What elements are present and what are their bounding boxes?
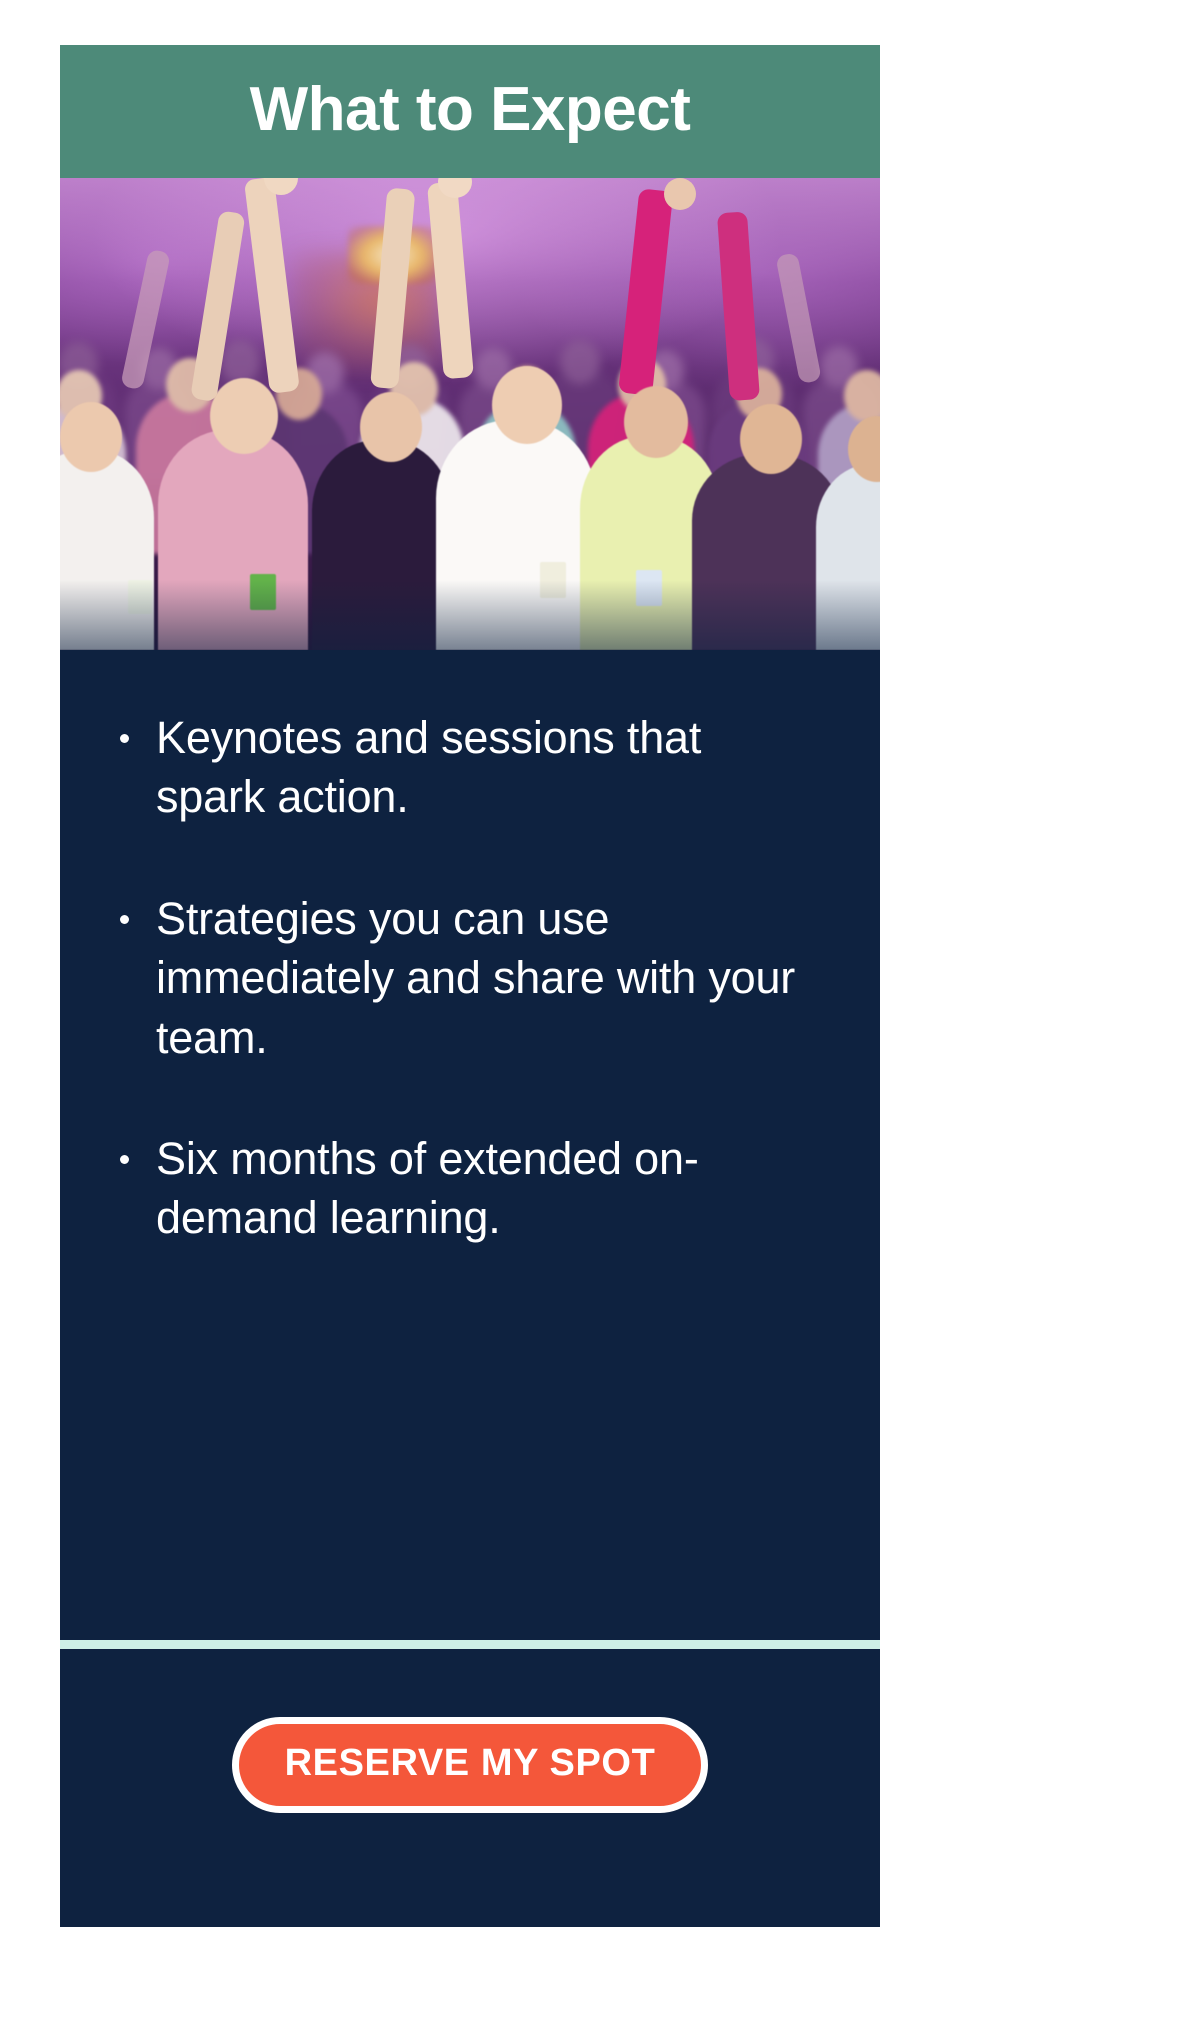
benefits-section: Keynotes and sessions that spark action.…: [60, 650, 880, 1640]
what-to-expect-card: What to Expect: [60, 45, 880, 1927]
card-header: What to Expect: [60, 45, 880, 178]
reserve-my-spot-button[interactable]: RESERVE MY SPOT: [232, 1717, 709, 1813]
list-item-label: Six months of extended on-demand learnin…: [156, 1133, 699, 1243]
cta-section: RESERVE MY SPOT: [60, 1649, 880, 1880]
page-canvas: What to Expect: [0, 0, 1201, 2023]
hero-image: [60, 178, 880, 650]
list-item: Six months of extended on-demand learnin…: [112, 1129, 816, 1248]
hero-bottom-shade: [60, 580, 880, 650]
benefits-list: Keynotes and sessions that spark action.…: [112, 708, 834, 1248]
page-title: What to Expect: [250, 79, 691, 145]
section-divider: [60, 1640, 880, 1649]
bullet-dot-icon: [120, 734, 129, 743]
bullet-dot-icon: [120, 915, 129, 924]
list-item: Strategies you can use immediately and s…: [112, 889, 816, 1067]
list-item-label: Strategies you can use immediately and s…: [156, 893, 795, 1063]
bullet-dot-icon: [120, 1155, 129, 1164]
list-item: Keynotes and sessions that spark action.: [112, 708, 816, 827]
list-item-label: Keynotes and sessions that spark action.: [156, 712, 701, 822]
